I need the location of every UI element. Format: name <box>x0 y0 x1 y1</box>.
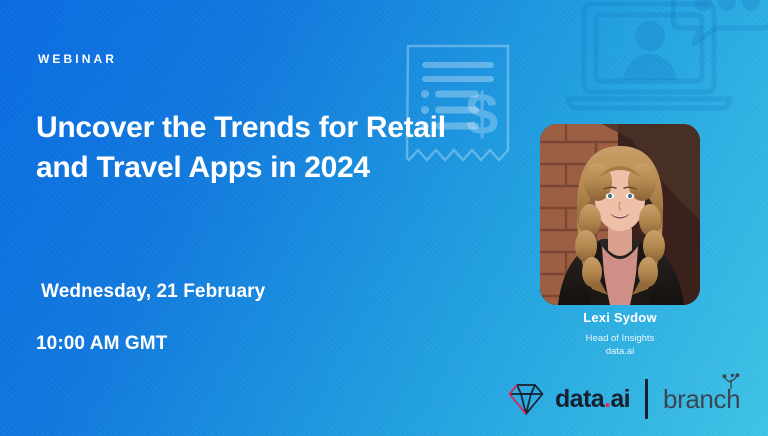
dataai-suffix: ai <box>610 385 630 413</box>
speaker-role: Head of Insights <box>540 332 700 346</box>
page-title: Uncover the Trends for Retail and Travel… <box>36 108 496 188</box>
laptop-video-call-illustration <box>566 0 768 112</box>
speaker-organization: data.ai <box>540 345 700 359</box>
webinar-time: 10:00 AM GMT <box>36 333 167 355</box>
webinar-date: Wednesday, 21 February <box>41 281 265 303</box>
dataai-name: data <box>555 385 604 413</box>
branch-wordmark: branch <box>663 386 740 413</box>
speaker-photo <box>540 124 700 305</box>
gem-icon <box>508 383 544 416</box>
logo-divider <box>645 379 648 419</box>
speaker-name: Lexi Sydow <box>540 310 700 325</box>
dataai-wordmark: data.ai <box>555 387 630 412</box>
eyebrow-label: WEBINAR <box>38 52 117 66</box>
sprout-icon <box>721 373 741 389</box>
logo-lockup: data.ai branch <box>508 378 740 420</box>
webinar-banner: $ <box>0 0 768 436</box>
